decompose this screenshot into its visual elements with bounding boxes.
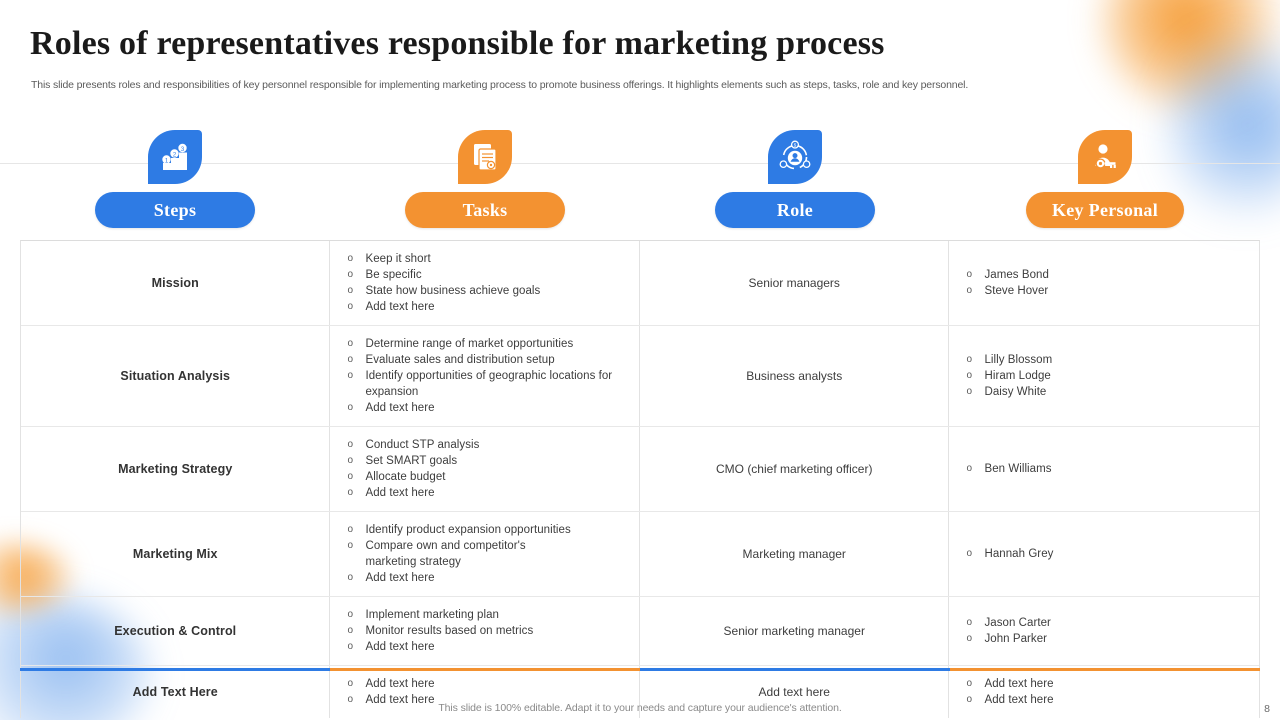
cell-role: Senior managers	[640, 241, 949, 325]
list-item: Hiram Lodge	[963, 368, 1259, 384]
list-item: Monitor results based on metrics	[344, 623, 639, 639]
accent-bar-role	[640, 668, 950, 671]
cell-tasks: Implement marketing plan Monitor results…	[330, 597, 640, 665]
task-list: Keep it short Be specific State how busi…	[344, 251, 639, 315]
cell-key-personal: Hannah Grey	[949, 512, 1259, 596]
list-item: Evaluate sales and distribution setup	[344, 352, 639, 368]
key-personal-list: Lilly Blossom Hiram Lodge Daisy White	[963, 352, 1259, 400]
list-item: Determine range of market opportunities	[344, 336, 639, 352]
cell-tasks: Keep it short Be specific State how busi…	[330, 241, 640, 325]
accent-bar-tasks	[330, 668, 640, 671]
cell-tasks: Determine range of market opportunities …	[330, 326, 640, 426]
cell-role: Business analysts	[640, 326, 949, 426]
list-item: Add text here	[344, 639, 639, 655]
cell-step: Marketing Strategy	[21, 427, 330, 511]
table-row: Execution & Control Implement marketing …	[21, 597, 1259, 666]
list-item: Add text here	[344, 485, 639, 501]
accent-bar-key-personal	[950, 668, 1260, 671]
slide-canvas: Roles of representatives responsible for…	[0, 0, 1280, 720]
footer-note: This slide is 100% editable. Adapt it to…	[0, 702, 1280, 714]
list-item: Ben Williams	[963, 461, 1259, 477]
list-item: Compare own and competitor's marketing s…	[344, 538, 556, 570]
cell-tasks: Identify product expansion opportunities…	[330, 512, 640, 596]
cell-step: Situation Analysis	[21, 326, 330, 426]
list-item: Identify product expansion opportunities	[344, 522, 639, 538]
key-personal-list: Jason Carter John Parker	[963, 615, 1259, 647]
list-item: Daisy White	[963, 384, 1259, 400]
task-list: Implement marketing plan Monitor results…	[344, 607, 639, 655]
list-item: Steve Hover	[963, 283, 1259, 299]
cell-step: Marketing Mix	[21, 512, 330, 596]
table-row: Situation Analysis Determine range of ma…	[21, 326, 1259, 427]
list-item: John Parker	[963, 631, 1259, 647]
pill-tasks[interactable]: Tasks	[405, 192, 565, 228]
task-list: Conduct STP analysis Set SMART goals All…	[344, 437, 639, 501]
cell-role: Senior marketing manager	[640, 597, 949, 665]
table-bottom-accent-bars	[20, 668, 1260, 671]
list-item: Identify opportunities of geographic loc…	[344, 368, 639, 400]
accent-bar-steps	[20, 668, 330, 671]
list-item: Set SMART goals	[344, 453, 639, 469]
cell-role: Marketing manager	[640, 512, 949, 596]
decorative-orange-blob-top-right	[1100, 0, 1280, 115]
list-item: Hannah Grey	[963, 546, 1259, 562]
cell-step: Mission	[21, 241, 330, 325]
task-list: Identify product expansion opportunities…	[344, 522, 639, 586]
column-header-role: $ Role	[640, 130, 950, 228]
list-item: Allocate budget	[344, 469, 639, 485]
list-item: State how business achieve goals	[344, 283, 639, 299]
task-list: Determine range of market opportunities …	[344, 336, 639, 416]
key-personal-list: James Bond Steve Hover	[963, 267, 1259, 299]
pill-role[interactable]: Role	[715, 192, 875, 228]
cell-tasks: Conduct STP analysis Set SMART goals All…	[330, 427, 640, 511]
list-item: Conduct STP analysis	[344, 437, 639, 453]
cell-key-personal: James Bond Steve Hover	[949, 241, 1259, 325]
cell-key-personal: Jason Carter John Parker	[949, 597, 1259, 665]
table-row: Marketing Mix Identify product expansion…	[21, 512, 1259, 597]
person-process-cycle-icon: $	[768, 130, 822, 184]
list-item: Add text here	[963, 676, 1259, 692]
list-item: Jason Carter	[963, 615, 1259, 631]
pill-key-personal[interactable]: Key Personal	[1026, 192, 1184, 228]
table-row: Mission Keep it short Be specific State …	[21, 241, 1259, 326]
list-item: Add text here	[344, 400, 639, 416]
page-number: 8	[1264, 703, 1270, 715]
list-item: Keep it short	[344, 251, 639, 267]
cell-key-personal: Ben Williams	[949, 427, 1259, 511]
list-item: Add text here	[344, 676, 639, 692]
page-subtitle: This slide presents roles and responsibi…	[31, 79, 968, 91]
pill-steps[interactable]: Steps	[95, 192, 255, 228]
key-personal-list: Ben Williams	[963, 461, 1259, 477]
table-row: Marketing Strategy Conduct STP analysis …	[21, 427, 1259, 512]
cell-key-personal: Lilly Blossom Hiram Lodge Daisy White	[949, 326, 1259, 426]
person-with-key-icon	[1078, 130, 1132, 184]
list-item: Implement marketing plan	[344, 607, 639, 623]
column-header-steps: 1 2 3 Steps	[20, 130, 330, 228]
key-personal-list: Hannah Grey	[963, 546, 1259, 562]
steps-bar-chart-icon: 1 2 3	[148, 130, 202, 184]
list-item: Add text here	[344, 299, 639, 315]
column-headers: 1 2 3 Steps	[20, 130, 1260, 240]
list-item: Be specific	[344, 267, 639, 283]
cell-step: Execution & Control	[21, 597, 330, 665]
page-title: Roles of representatives responsible for…	[30, 25, 885, 63]
list-item: James Bond	[963, 267, 1259, 283]
roles-table: Mission Keep it short Be specific State …	[20, 240, 1260, 718]
cell-role: CMO (chief marketing officer)	[640, 427, 949, 511]
list-item: Lilly Blossom	[963, 352, 1259, 368]
column-header-key-personal: Key Personal	[950, 130, 1260, 228]
column-header-tasks: Tasks	[330, 130, 640, 228]
checklist-document-icon	[458, 130, 512, 184]
list-item: Add text here	[344, 570, 639, 586]
